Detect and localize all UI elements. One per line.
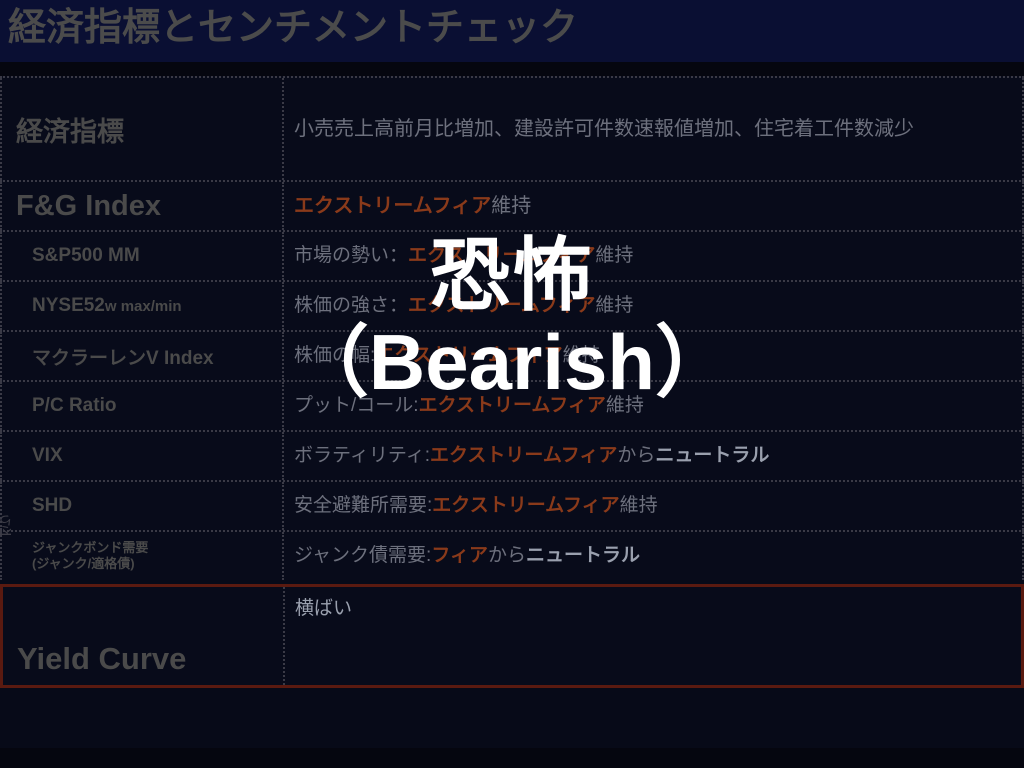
- value-accent: エクストリームフィア: [375, 345, 562, 366]
- slide-root: 経済指標とセンチメントチェック kら 経済指標 小売売上高前月比増加、建設許可件…: [0, 0, 1024, 768]
- value-text: プット/コール:エクストリームフィア維持: [294, 392, 644, 421]
- side-annotation: kら: [0, 458, 24, 536]
- label-text: NYSE52w max/min: [32, 295, 276, 317]
- table-row-pc-ratio: P/C Ratio プット/コール:エクストリームフィア維持: [0, 380, 1024, 430]
- table-row-sp500-mm: S&P500 MM 市場の勢い：エクストリームフィア維持: [0, 230, 1024, 280]
- row-value-pc-ratio: プット/コール:エクストリームフィア維持: [284, 382, 1024, 430]
- value-strong: ニュートラル: [655, 445, 769, 466]
- label-main: NYSE52: [32, 295, 105, 316]
- value-accent: エクストリームフィア: [430, 445, 617, 466]
- value-accent: フィア: [431, 545, 488, 566]
- row-label-fg-index: F&G Index: [0, 182, 284, 230]
- row-value-junk-bond: ジャンク債需要:フィアからニュートラル: [284, 532, 1024, 580]
- value-prefix: 株価の強さ：: [294, 295, 408, 316]
- row-label-vix: VIX: [0, 432, 284, 480]
- value-accent: エクストリームフィア: [408, 245, 595, 266]
- label-line-2: (ジャンク/適格債): [32, 556, 276, 572]
- row-label-shd: SHD: [0, 482, 284, 530]
- value-text: 横ばい: [295, 595, 352, 624]
- label-text: S&P500 MM: [32, 245, 276, 267]
- value-text: 株価の幅:エクストリームフィア維持: [294, 342, 601, 371]
- table-row-vix: VIX ボラティリティ:エクストリームフィアからニュートラル: [0, 430, 1024, 480]
- label-text: Yield Curve: [17, 641, 277, 677]
- value-prefix: 安全避難所需要:: [294, 495, 432, 516]
- value-tail: 維持: [563, 345, 601, 366]
- table-row-junk-bond: ジャンクボンド需要 (ジャンク/適格債) ジャンク債需要:フィアからニュートラル: [0, 530, 1024, 580]
- value-accent: エクストリームフィア: [408, 295, 595, 316]
- row-value-shd: 安全避難所需要:エクストリームフィア維持: [284, 482, 1024, 530]
- row-value-yield-curve: 横ばい: [285, 587, 1021, 685]
- table-row-fg-index: F&G Index エクストリームフィア維持: [0, 180, 1024, 230]
- row-value-fg-index: エクストリームフィア維持: [284, 182, 1024, 230]
- value-tail: 維持: [595, 245, 633, 266]
- value-prefix: 市場の勢い：: [294, 245, 408, 266]
- table-row-mcclellan-v-index: マクラーレンV Index 株価の幅:エクストリームフィア維持: [0, 330, 1024, 380]
- label-text: F&G Index: [16, 190, 276, 223]
- table-row-yield-curve: Yield Curve 横ばい: [0, 584, 1024, 688]
- value-prefix: ジャンク債需要:: [294, 545, 431, 566]
- row-value-sp500-mm: 市場の勢い：エクストリームフィア維持: [284, 232, 1024, 280]
- value-strong: ニュートラル: [526, 545, 640, 566]
- row-label-yield-curve: Yield Curve: [3, 587, 285, 685]
- page-title: 経済指標とセンチメントチェック: [8, 3, 578, 53]
- label-text: SHD: [32, 495, 276, 517]
- value-mid: から: [617, 445, 655, 466]
- row-label-sp500-mm: S&P500 MM: [0, 232, 284, 280]
- label-text: VIX: [32, 445, 276, 467]
- value-accent: エクストリームフィア: [432, 495, 619, 516]
- value-text: 市場の勢い：エクストリームフィア維持: [294, 242, 633, 271]
- value-text: 小売売上高前月比増加、建設許可件数速報値増加、住宅着工件数減少: [294, 114, 914, 145]
- row-label-nyse52w: NYSE52w max/min: [0, 282, 284, 330]
- value-text: ジャンク債需要:フィアからニュートラル: [294, 542, 640, 571]
- table-row-shd: SHD 安全避難所需要:エクストリームフィア維持: [0, 480, 1024, 530]
- row-label-mcclellan-v-index: マクラーレンV Index: [0, 332, 284, 380]
- value-mid: から: [488, 545, 526, 566]
- value-tail: 維持: [620, 495, 658, 516]
- label-line-1: ジャンクボンド需要: [32, 540, 276, 556]
- label-sub: w max/min: [105, 298, 182, 315]
- table-row-economic: 経済指標 小売売上高前月比増加、建設許可件数速報値増加、住宅着工件数減少: [0, 76, 1024, 180]
- value-prefix: 株価の幅:: [294, 345, 375, 366]
- value-tail: 維持: [606, 395, 644, 416]
- row-value-vix: ボラティリティ:エクストリームフィアからニュートラル: [284, 432, 1024, 480]
- value-accent: エクストリームフィア: [294, 195, 491, 217]
- value-text: 安全避難所需要:エクストリームフィア維持: [294, 492, 658, 521]
- row-value-mcclellan-v-index: 株価の幅:エクストリームフィア維持: [284, 332, 1024, 380]
- label-text: 経済指標: [16, 110, 276, 149]
- value-tail: 維持: [491, 195, 531, 217]
- value-text: エクストリームフィア維持: [294, 191, 531, 221]
- row-label-junk-bond: ジャンクボンド需要 (ジャンク/適格債): [0, 532, 284, 580]
- row-label-pc-ratio: P/C Ratio: [0, 382, 284, 430]
- label-text: P/C Ratio: [32, 395, 276, 417]
- table-row-nyse52w: NYSE52w max/min 株価の強さ：エクストリームフィア維持: [0, 280, 1024, 330]
- row-value-nyse52w: 株価の強さ：エクストリームフィア維持: [284, 282, 1024, 330]
- row-label-economic: 経済指標: [0, 78, 284, 180]
- value-prefix: ボラティリティ:: [294, 445, 430, 466]
- value-prefix: プット/コール:: [294, 395, 419, 416]
- indicator-table: kら 経済指標 小売売上高前月比増加、建設許可件数速報値増加、住宅着工件数減少 …: [0, 76, 1024, 748]
- value-accent: エクストリームフィア: [419, 395, 606, 416]
- header-bar: 経済指標とセンチメントチェック: [0, 0, 1024, 62]
- value-text: ボラティリティ:エクストリームフィアからニュートラル: [294, 442, 769, 471]
- row-value-economic: 小売売上高前月比増加、建設許可件数速報値増加、住宅着工件数減少: [284, 78, 1024, 180]
- label-text: マクラーレンV Index: [32, 343, 276, 370]
- value-tail: 維持: [595, 295, 633, 316]
- value-text: 株価の強さ：エクストリームフィア維持: [294, 292, 633, 321]
